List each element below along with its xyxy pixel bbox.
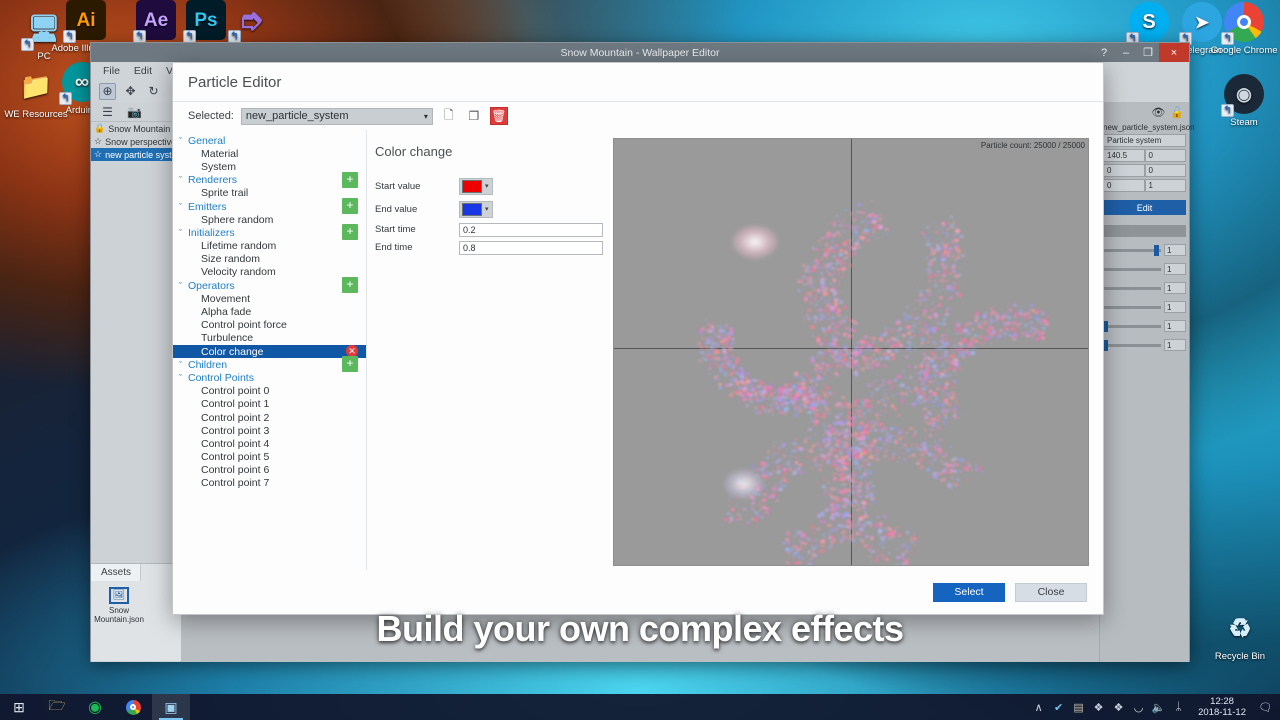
taskbar-buttons: ⊞ 🗁 ◉ ▣ — [0, 694, 190, 720]
video-caption: Build your own complex effects — [0, 608, 1280, 650]
chevron-down-icon: ▾ — [424, 112, 428, 121]
properties-cell[interactable]: 1 — [1145, 179, 1187, 192]
properties-section-header — [1103, 225, 1186, 237]
tree-label: Alpha fade — [201, 306, 251, 318]
visibility-icon[interactable]: 👁 — [1151, 106, 1165, 119]
slider-track[interactable] — [1103, 287, 1161, 290]
properties-file-name: new_particle_system.json — [1103, 123, 1186, 132]
properties-panel: 👁 🔓 new_particle_system.json Particle sy… — [1099, 102, 1189, 662]
slider-knob[interactable] — [1154, 245, 1159, 256]
property-end-time: End time 0.8 — [375, 239, 613, 256]
move-tool-icon[interactable]: ✥ — [122, 83, 139, 100]
tree-item-alpha-fade[interactable]: Alpha fade — [173, 305, 366, 318]
desktop-icon-chrome[interactable]: Google Chrome — [1208, 2, 1280, 56]
chevron-down-icon: ˇ — [173, 281, 188, 291]
tree-item-control-point-5[interactable]: Control point 5 — [173, 451, 366, 464]
taskbar: ⊞ 🗁 ◉ ▣ ∧ ✔ ▤ ❖ ❖ ◡ 🔈 ᛦ 12:28 2018-11-12… — [0, 694, 1280, 720]
add-initializer-button[interactable]: + — [342, 224, 358, 240]
particle-system-select[interactable]: new_particle_system ▾ — [241, 108, 433, 125]
particle-count-label: Particle count: 25000 / 25000 — [981, 141, 1085, 150]
tree-item-control-point-7[interactable]: Control point 7 — [173, 477, 366, 490]
layer-label: Snow perspective — [105, 137, 176, 147]
chevron-down-icon: ˇ — [173, 136, 188, 146]
tree-item-size-random[interactable]: Size random — [173, 253, 366, 266]
chevron-down-icon: ˇ — [173, 175, 188, 185]
tree-label: Sphere random — [201, 214, 273, 226]
add-renderer-button[interactable]: + — [342, 172, 358, 188]
dropbox-icon[interactable]: ❖ — [1112, 701, 1125, 714]
tree-item-control-point-0[interactable]: Control point 0 — [173, 385, 366, 398]
layers-panel-tabs: ☰ 📷 — [91, 102, 180, 122]
tree-group-children[interactable]: ˇ Children + — [173, 358, 366, 371]
select-tool-icon[interactable]: ⊕ — [99, 83, 116, 100]
properties-cell[interactable]: 140.5 — [1103, 149, 1145, 162]
property-slider[interactable]: 1 — [1103, 320, 1186, 332]
tree-item-color-change[interactable]: Color change ✕ — [173, 345, 366, 358]
module-properties: Color change Start value ▾ End value ▾ S… — [367, 130, 613, 570]
wifi-icon[interactable]: ◡ — [1132, 701, 1145, 714]
slider-value[interactable]: 1 — [1164, 263, 1186, 275]
tree-label: Control point 2 — [201, 412, 269, 424]
tree-label: Size random — [201, 253, 260, 265]
properties-panel-icons: 👁 🔓 — [1103, 106, 1186, 119]
start-value-color-picker[interactable]: ▾ — [459, 178, 493, 195]
slider-track[interactable] — [1103, 268, 1161, 271]
tree-label: Velocity random — [201, 266, 276, 278]
tree-label: Color change — [201, 346, 263, 358]
assets-tab[interactable]: Assets — [91, 564, 141, 581]
tree-item-sprite-trail[interactable]: Sprite trail — [173, 187, 366, 200]
tree-label: Control point 7 — [201, 477, 269, 489]
app-tray-icon[interactable]: ▤ — [1072, 701, 1085, 714]
desktop-icon-label: Recycle Bin — [1204, 651, 1276, 662]
properties-cell[interactable]: 0 — [1145, 149, 1187, 162]
tree-group-renderers[interactable]: ˇ Renderers + — [173, 174, 366, 187]
clock[interactable]: 12:28 2018-11-12 — [1192, 696, 1252, 718]
add-emitter-button[interactable]: + — [342, 198, 358, 214]
properties-row: 0 1 — [1103, 179, 1186, 192]
wallpaper-engine-tray-icon[interactable]: ❖ — [1092, 701, 1105, 714]
tree-label: Operators — [188, 280, 235, 292]
slider-value[interactable]: 1 — [1164, 244, 1186, 256]
file-explorer-button[interactable]: 🗁 — [38, 694, 76, 720]
tree-group-initializers[interactable]: ˇ Initializers + — [173, 226, 366, 239]
slider-track[interactable] — [1103, 249, 1161, 252]
tree-item-control-point-4[interactable]: Control point 4 — [173, 437, 366, 450]
menu-item-edit[interactable]: Edit — [134, 65, 152, 77]
property-slider[interactable]: 1 — [1103, 339, 1186, 351]
bluetooth-icon[interactable]: ᛦ — [1172, 701, 1185, 714]
window-controls: ? – ❐ × — [1093, 43, 1189, 62]
system-tray: ∧ ✔ ▤ ❖ ❖ ◡ 🔈 ᛦ 12:28 2018-11-12 🗨 — [1032, 696, 1280, 718]
property-label: End value — [375, 204, 459, 215]
clock-date: 2018-11-12 — [1198, 707, 1246, 718]
property-start-time: Start time 0.2 — [375, 221, 613, 238]
tree-label: System — [201, 161, 236, 173]
tree-label: Renderers — [188, 174, 237, 186]
tree-label: Sprite trail — [201, 187, 248, 199]
tree-item-control-point-force[interactable]: Control point force — [173, 319, 366, 332]
action-center-button[interactable]: 🗨 — [1259, 701, 1272, 714]
remove-module-button[interactable]: ✕ — [346, 345, 358, 357]
properties-cell[interactable]: 0 — [1145, 164, 1187, 177]
tree-group-emitters[interactable]: ˇ Emitters + — [173, 200, 366, 213]
selection-bar: Selected: new_particle_system ▾ 🗋 ❐ 🗑 — [173, 102, 1103, 130]
property-slider[interactable]: 1 — [1103, 301, 1186, 313]
layer-item-snow-perspective[interactable]: ☆ Snow perspective — [91, 135, 180, 148]
tree-item-lifetime-random[interactable]: Lifetime random — [173, 240, 366, 253]
end-time-input[interactable]: 0.8 — [459, 241, 603, 255]
tree-label: Movement — [201, 293, 250, 305]
tree-label: Turbulence — [201, 332, 253, 344]
property-slider[interactable]: 1 — [1103, 282, 1186, 294]
properties-row: 0 0 — [1103, 164, 1186, 177]
visual-studio-icon: ➮ — [231, 0, 271, 40]
tree-item-control-point-2[interactable]: Control point 2 — [173, 411, 366, 424]
color-chip — [462, 203, 482, 216]
tree-label: Material — [201, 148, 238, 160]
slider-value[interactable]: 1 — [1164, 320, 1186, 332]
spotify-button[interactable]: ◉ — [76, 694, 114, 720]
skype-icon: S — [1129, 2, 1169, 42]
tree-item-control-point-3[interactable]: Control point 3 — [173, 424, 366, 437]
tree-label: Control Points — [188, 372, 254, 384]
star-icon: ☆ — [94, 136, 102, 147]
tree-group-operators[interactable]: ˇ Operators + — [173, 279, 366, 292]
image-icon: 🖼 — [109, 587, 129, 604]
tree-item-control-point-1[interactable]: Control point 1 — [173, 398, 366, 411]
tree-label: Children — [188, 359, 227, 371]
maximize-button[interactable]: ❐ — [1137, 43, 1159, 62]
particle-core-flare-secondary — [724, 469, 764, 499]
help-button[interactable]: ? — [1093, 43, 1115, 62]
tree-label: Control point force — [201, 319, 287, 331]
desktop-icon-label: Steam — [1208, 117, 1280, 128]
close-button[interactable]: × — [1159, 43, 1189, 62]
properties-cell[interactable]: 0 — [1103, 179, 1145, 192]
tree-label: Emitters — [188, 201, 227, 213]
properties-title: Color change — [375, 144, 613, 159]
slider-track[interactable] — [1103, 325, 1161, 328]
star-icon: ☆ — [94, 149, 102, 160]
close-button[interactable]: Close — [1015, 583, 1087, 602]
property-slider[interactable]: 1 — [1103, 244, 1186, 256]
new-particle-system-button[interactable]: 🗋 — [440, 107, 458, 125]
steam-icon: ◉ — [1224, 74, 1264, 114]
tree-group-general[interactable]: ˇ General — [173, 134, 366, 147]
property-slider[interactable]: 1 — [1103, 263, 1186, 275]
start-button[interactable]: ⊞ — [0, 694, 38, 720]
particle-editor-dialog: Particle Editor Selected: new_particle_s… — [172, 62, 1104, 615]
particle-core-flare — [732, 225, 778, 259]
slider-value[interactable]: 1 — [1164, 282, 1186, 294]
tree-label: Lifetime random — [201, 240, 276, 252]
add-child-button[interactable]: + — [342, 356, 358, 372]
tree-label: Control point 6 — [201, 464, 269, 476]
chevron-down-icon: ▾ — [485, 182, 489, 190]
property-end-value: End value ▾ — [375, 198, 613, 220]
tree-item-turbulence[interactable]: Turbulence — [173, 332, 366, 345]
window-titlebar[interactable]: Snow Mountain - Wallpaper Editor ? – ❐ × — [91, 43, 1189, 62]
property-label: Start time — [375, 224, 459, 235]
window-title: Snow Mountain - Wallpaper Editor — [91, 47, 1189, 59]
copy-particle-system-button[interactable]: ❐ — [465, 107, 483, 125]
desktop-icon-visual-studio[interactable]: ➮ — [215, 0, 287, 43]
property-label: End time — [375, 242, 459, 253]
chevron-down-icon: ˇ — [173, 228, 188, 238]
layer-item-snow-mountain[interactable]: 🔒 Snow Mountain — [91, 122, 180, 135]
particle-preview-viewport[interactable]: Particle count: 25000 / 25000 — [613, 138, 1089, 566]
color-chip — [462, 180, 482, 193]
show-hidden-icons-button[interactable]: ∧ — [1032, 701, 1045, 714]
add-operator-button[interactable]: + — [342, 277, 358, 293]
slider-value[interactable]: 1 — [1164, 339, 1186, 351]
tree-label: General — [188, 135, 225, 147]
tree-group-control-points[interactable]: ˇ Control Points — [173, 371, 366, 384]
wallpaper-engine-button[interactable]: ▣ — [152, 694, 190, 720]
selected-value: new_particle_system — [246, 110, 349, 122]
tree-label: Initializers — [188, 227, 235, 239]
tree-label: Control point 3 — [201, 425, 269, 437]
tree-label: Control point 1 — [201, 398, 269, 410]
menu-item-file[interactable]: File — [103, 65, 120, 77]
dropbox-tray-icon[interactable]: ✔ — [1052, 701, 1065, 714]
chevron-down-icon: ▾ — [485, 205, 489, 213]
properties-row: 140.5 0 — [1103, 149, 1186, 162]
tree-item-material[interactable]: Material — [173, 147, 366, 160]
camera-tab-icon[interactable]: 📷 — [126, 103, 143, 120]
property-start-value: Start value ▾ — [375, 175, 613, 197]
tree-item-system[interactable]: System — [173, 160, 366, 173]
chevron-down-icon: ˇ — [173, 360, 188, 370]
chevron-down-icon: ˇ — [173, 373, 188, 383]
lock-icon[interactable]: 🔓 — [1170, 106, 1184, 119]
volume-icon[interactable]: 🔈 — [1152, 701, 1165, 714]
preview-area: Particle count: 25000 / 25000 — [613, 130, 1103, 570]
properties-type-field[interactable]: Particle system — [1103, 134, 1186, 147]
google-chrome-icon — [1224, 2, 1264, 42]
slider-value[interactable]: 1 — [1164, 301, 1186, 313]
dialog-main: ˇ General Material System ˇ Renderers + … — [173, 130, 1103, 570]
rotate-tool-icon[interactable]: ↻ — [145, 83, 162, 100]
layer-item-new-particle-system[interactable]: ☆ new particle system — [91, 148, 180, 161]
dialog-header: Particle Editor — [173, 63, 1103, 102]
desktop-icon-label: Google Chrome — [1208, 45, 1280, 56]
slider-track[interactable] — [1103, 306, 1161, 309]
layers-tab-icon[interactable]: ☰ — [99, 103, 116, 120]
minimize-button[interactable]: – — [1115, 43, 1137, 62]
particle-module-tree: ˇ General Material System ˇ Renderers + … — [173, 130, 367, 570]
page-title: Particle Editor — [188, 74, 281, 91]
lock-icon: 🔒 — [94, 123, 105, 134]
start-time-input[interactable]: 0.2 — [459, 223, 603, 237]
tree-item-velocity-random[interactable]: Velocity random — [173, 266, 366, 279]
tree-item-control-point-6[interactable]: Control point 6 — [173, 464, 366, 477]
edit-button[interactable]: Edit — [1103, 200, 1186, 215]
property-label: Start value — [375, 181, 459, 192]
tree-label: Control point 0 — [201, 385, 269, 397]
chrome-button[interactable] — [114, 694, 152, 720]
selected-label: Selected: — [188, 110, 234, 122]
tree-label: Control point 5 — [201, 451, 269, 463]
desktop-icon-steam[interactable]: ◉ Steam — [1208, 74, 1280, 128]
tree-label: Control point 4 — [201, 438, 269, 450]
tree-item-sphere-random[interactable]: Sphere random — [173, 213, 366, 226]
clock-time: 12:28 — [1198, 696, 1246, 707]
chevron-down-icon: ˇ — [173, 202, 188, 212]
properties-cell[interactable]: 0 — [1103, 164, 1145, 177]
delete-particle-system-button[interactable]: 🗑 — [490, 107, 508, 125]
tree-item-movement[interactable]: Movement — [173, 292, 366, 305]
slider-track[interactable] — [1103, 344, 1161, 347]
adobe-illustrator-icon: Ai — [66, 0, 106, 40]
layer-label: Snow Mountain — [108, 124, 170, 134]
select-button[interactable]: Select — [933, 583, 1005, 602]
end-value-color-picker[interactable]: ▾ — [459, 201, 493, 218]
